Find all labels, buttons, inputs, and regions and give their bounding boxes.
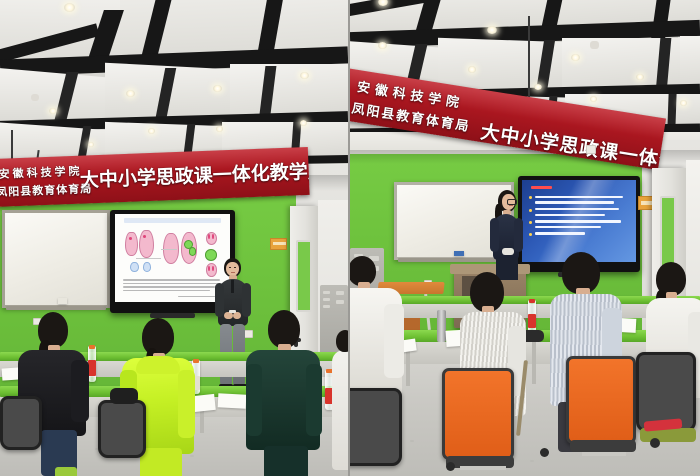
left-classroom-photo: 安徽科技学院 凤阳县教育体育局 大中小学思政课一体化教学展示: [0, 0, 348, 476]
banner-org-line1: 安徽科技学院: [0, 163, 83, 182]
ceiling-downlight: [300, 72, 309, 79]
screenshot-root: 安徽科技学院 凤阳县教育体育局 大中小学思政课一体化教学展示: [0, 0, 700, 476]
ceiling-downlight: [216, 126, 223, 132]
ceiling-downlight: [49, 108, 57, 114]
ceiling-downlight: [64, 3, 75, 12]
ceiling-downlight: [213, 85, 222, 92]
ceiling-downlight: [300, 120, 307, 126]
right-classroom-photo: 安徽科技学院 凤阳县教育体育局 大中小学思政课一体化教学展示: [350, 0, 700, 476]
office-chair-orange[interactable]: [566, 356, 636, 444]
chair-caster: [540, 448, 549, 457]
ceiling-downlight: [534, 84, 542, 90]
ceiling-sensor-icon: [31, 94, 39, 101]
partial-person-right-edge: [332, 330, 348, 476]
display-screen-right: [522, 180, 636, 262]
ceiling-downlight: [148, 128, 155, 134]
ceiling-downlight: [378, 42, 387, 49]
presenter-right: [490, 190, 524, 282]
seated-person-left-3: [246, 310, 324, 476]
chair-seat: [570, 440, 636, 452]
ceiling-downlight: [126, 90, 135, 97]
ceiling-downlight: [680, 100, 687, 106]
slide-title-bar: [124, 218, 221, 223]
thermos-flask: [437, 310, 446, 342]
slide-heading: [531, 186, 552, 189]
ceiling-downlight: [88, 142, 94, 147]
ceiling-downlight: [636, 74, 644, 80]
office-chair[interactable]: [0, 396, 42, 450]
office-chair[interactable]: [98, 400, 146, 458]
handout-paper: [218, 393, 247, 408]
wall-sign-left: [270, 238, 287, 250]
office-chair-orange[interactable]: [442, 368, 514, 460]
whiteboard-left: [2, 210, 110, 308]
chair-base: [460, 466, 506, 470]
seated-person-left-1: [15, 312, 89, 476]
office-chair-grey[interactable]: [350, 388, 402, 466]
chair-headrest: [110, 388, 138, 404]
ceiling-downlight: [590, 96, 597, 102]
whiteboard-marker-tray: [6, 306, 106, 310]
whiteboard-eraser: [454, 251, 464, 256]
wall-socket: [586, 145, 596, 154]
ceiling-downlight: [468, 66, 476, 73]
water-bottle: [88, 346, 96, 382]
ceiling-sensor-icon: [590, 41, 599, 49]
whiteboard-eraser: [58, 298, 67, 304]
chair-caster: [650, 438, 660, 448]
ceiling-downlight: [487, 26, 497, 34]
ceiling-downlight: [571, 54, 580, 61]
chair-caster: [446, 462, 455, 471]
door-window: [296, 240, 312, 312]
chair-base: [582, 452, 626, 456]
banner-org-line2: 凤阳县教育体育局: [0, 180, 93, 200]
